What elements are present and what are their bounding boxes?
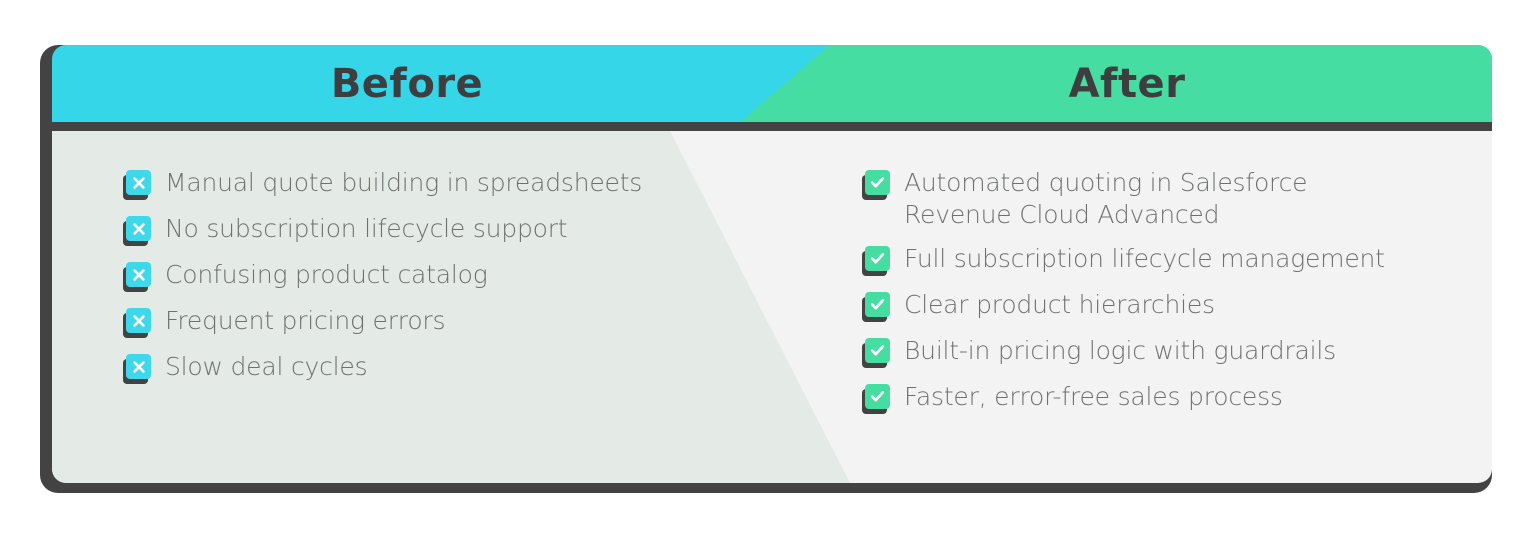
x-mark-icon [123,170,151,201]
list-item: Clear product hierarchies [862,289,1492,323]
icon-face [126,262,151,287]
check-mark-icon [862,384,890,415]
list-item-label: Full subscription lifecycle management [904,243,1385,275]
list-item: Built-in pricing logic with guardrails [862,335,1492,369]
card-header: Before After [52,45,1492,131]
body-columns: Manual quote building in spreadsheets No [52,131,1492,483]
icon-face [126,354,151,379]
icon-face [126,170,151,195]
icon-face [126,216,151,241]
comparison-graphic: Before After [0,0,1536,543]
check-mark-icon [862,338,890,369]
list-item: Automated quoting in Salesforce Revenue … [862,167,1492,231]
list-item: Faster, error-free sales process [862,381,1492,415]
list-item: Slow deal cycles [123,351,810,385]
list-item-label: No subscription lifecycle support [165,213,567,245]
check-mark-icon [862,246,890,277]
list-item-label: Manual quote building in spreadsheets [165,167,642,199]
card-body: Manual quote building in spreadsheets No [52,131,1492,483]
list-item-label: Built-in pricing logic with guardrails [904,335,1336,367]
list-item: No subscription lifecycle support [123,213,810,247]
after-list: Automated quoting in Salesforce Revenue … [810,131,1492,483]
icon-face [865,384,890,409]
x-mark-icon [123,262,151,293]
icon-face [865,170,890,195]
list-item-label: Automated quoting in Salesforce Revenue … [904,167,1307,231]
before-heading: Before [331,64,483,104]
list-item-label: Frequent pricing errors [165,305,445,337]
check-mark-icon [862,292,890,323]
list-item: Confusing product catalog [123,259,810,293]
list-item: Full subscription lifecycle management [862,243,1492,277]
list-item: Manual quote building in spreadsheets [123,167,810,201]
list-item-label: Faster, error-free sales process [904,381,1283,413]
x-mark-icon [123,354,151,385]
list-item-label: Slow deal cycles [165,351,367,383]
x-mark-icon [123,308,151,339]
icon-face [865,246,890,271]
header-cell-before: Before [52,45,762,122]
before-list: Manual quote building in spreadsheets No [52,131,810,483]
header-title-row: Before After [52,45,1492,122]
icon-face [126,308,151,333]
list-item: Frequent pricing errors [123,305,810,339]
header-bottom-rule [52,122,1492,131]
check-mark-icon [862,170,890,201]
x-mark-icon [123,216,151,247]
icon-face [865,338,890,363]
header-cell-after: After [762,45,1492,122]
list-item-label: Confusing product catalog [165,259,488,291]
after-heading: After [1069,64,1186,104]
list-item-label: Clear product hierarchies [904,289,1215,321]
before-after-card: Before After [52,45,1492,483]
icon-face [865,292,890,317]
